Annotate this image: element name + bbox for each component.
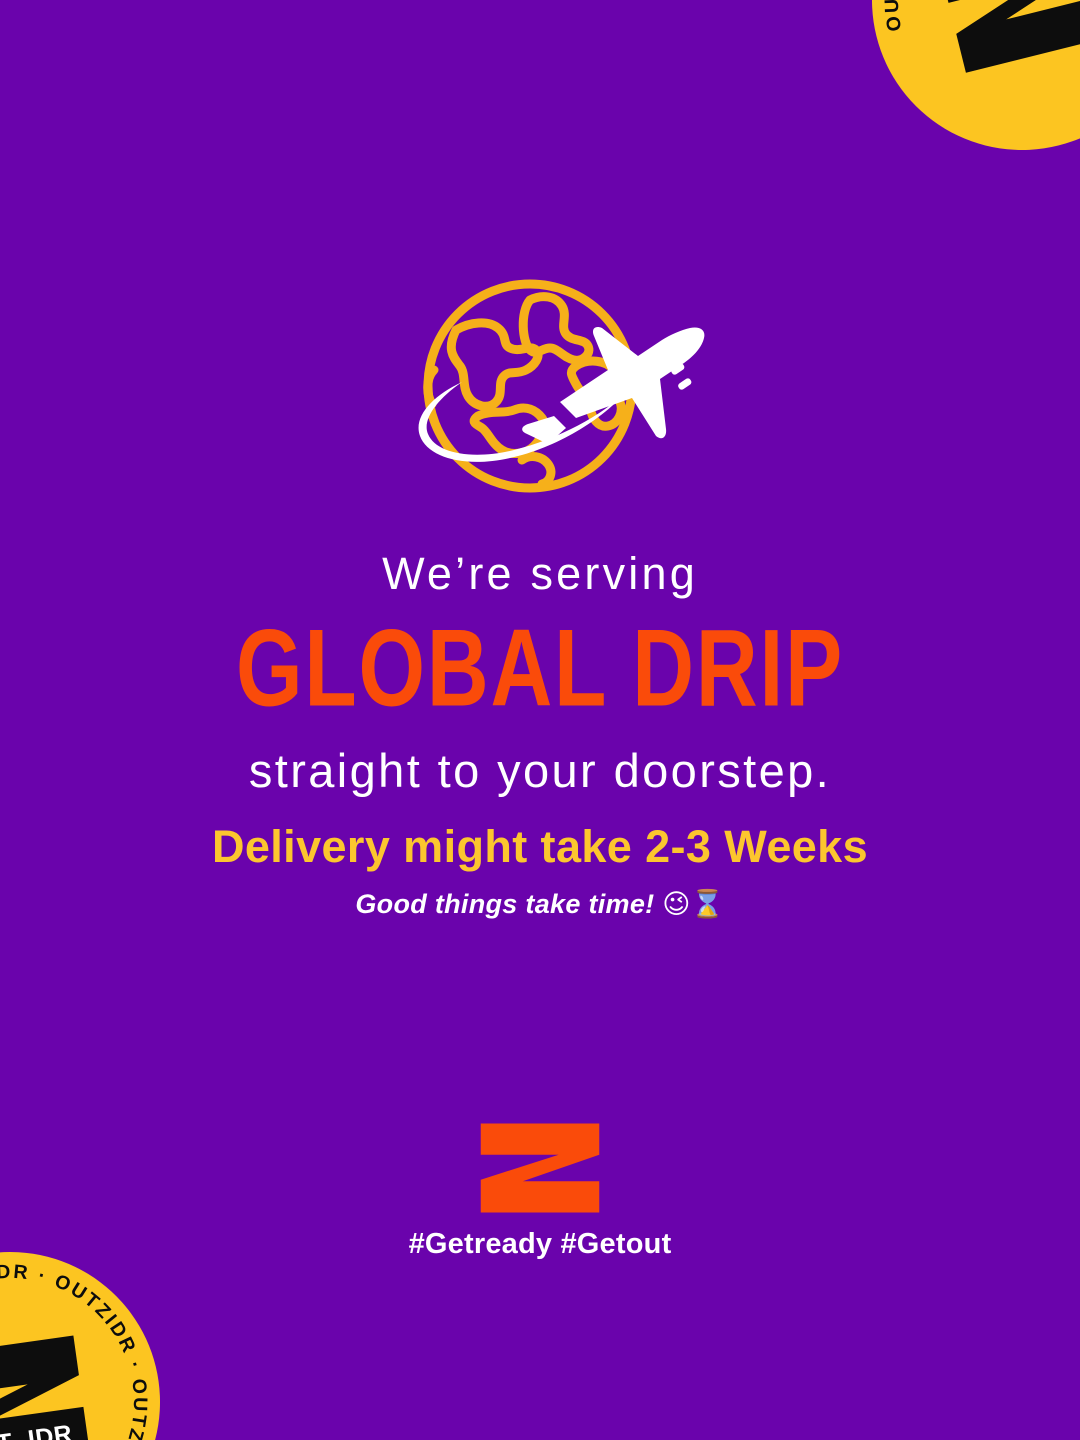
delivery-note: Delivery might take 2-3 Weeks Good thing… [0,822,1080,922]
copy-line-serving: We’re serving [40,548,1040,600]
hourglass-icon: ⌛ [691,889,725,920]
z-logo-icon [476,1122,604,1214]
globe-airplane-icon [0,278,1080,508]
badge-bottom-left: OUTZIDR · OUTZIDR · OUTZIDR · OUTZIDR · … [0,1233,179,1440]
main-copy: We’re serving GLOBAL DRIP straight to yo… [0,548,1080,798]
footer-brand: #Getready #Getout [0,1122,1080,1261]
z-logo-icon-bottom-left: OUTZIDR [0,1332,97,1440]
badge-top-right: OUTZIDR · OUTZIDR · OUTZIDR · OUTZIDR · [840,0,1080,182]
copy-headline-global-drip: GLOBAL DRIP [80,606,1000,729]
poster-canvas: OUTZIDR · OUTZIDR · OUTZIDR · OUTZIDR · … [0,0,1080,1440]
footer-tagline: #Getready #Getout [0,1228,1080,1261]
delivery-headline: Delivery might take 2-3 Weeks [30,822,1050,872]
winking-face-icon: 😉 [662,889,690,920]
copy-line-doorstep: straight to your doorstep. [40,744,1040,798]
delivery-subtext-row: Good things take time! 😉⌛ [30,888,1050,921]
delivery-subtext: Good things take time! [355,889,662,919]
